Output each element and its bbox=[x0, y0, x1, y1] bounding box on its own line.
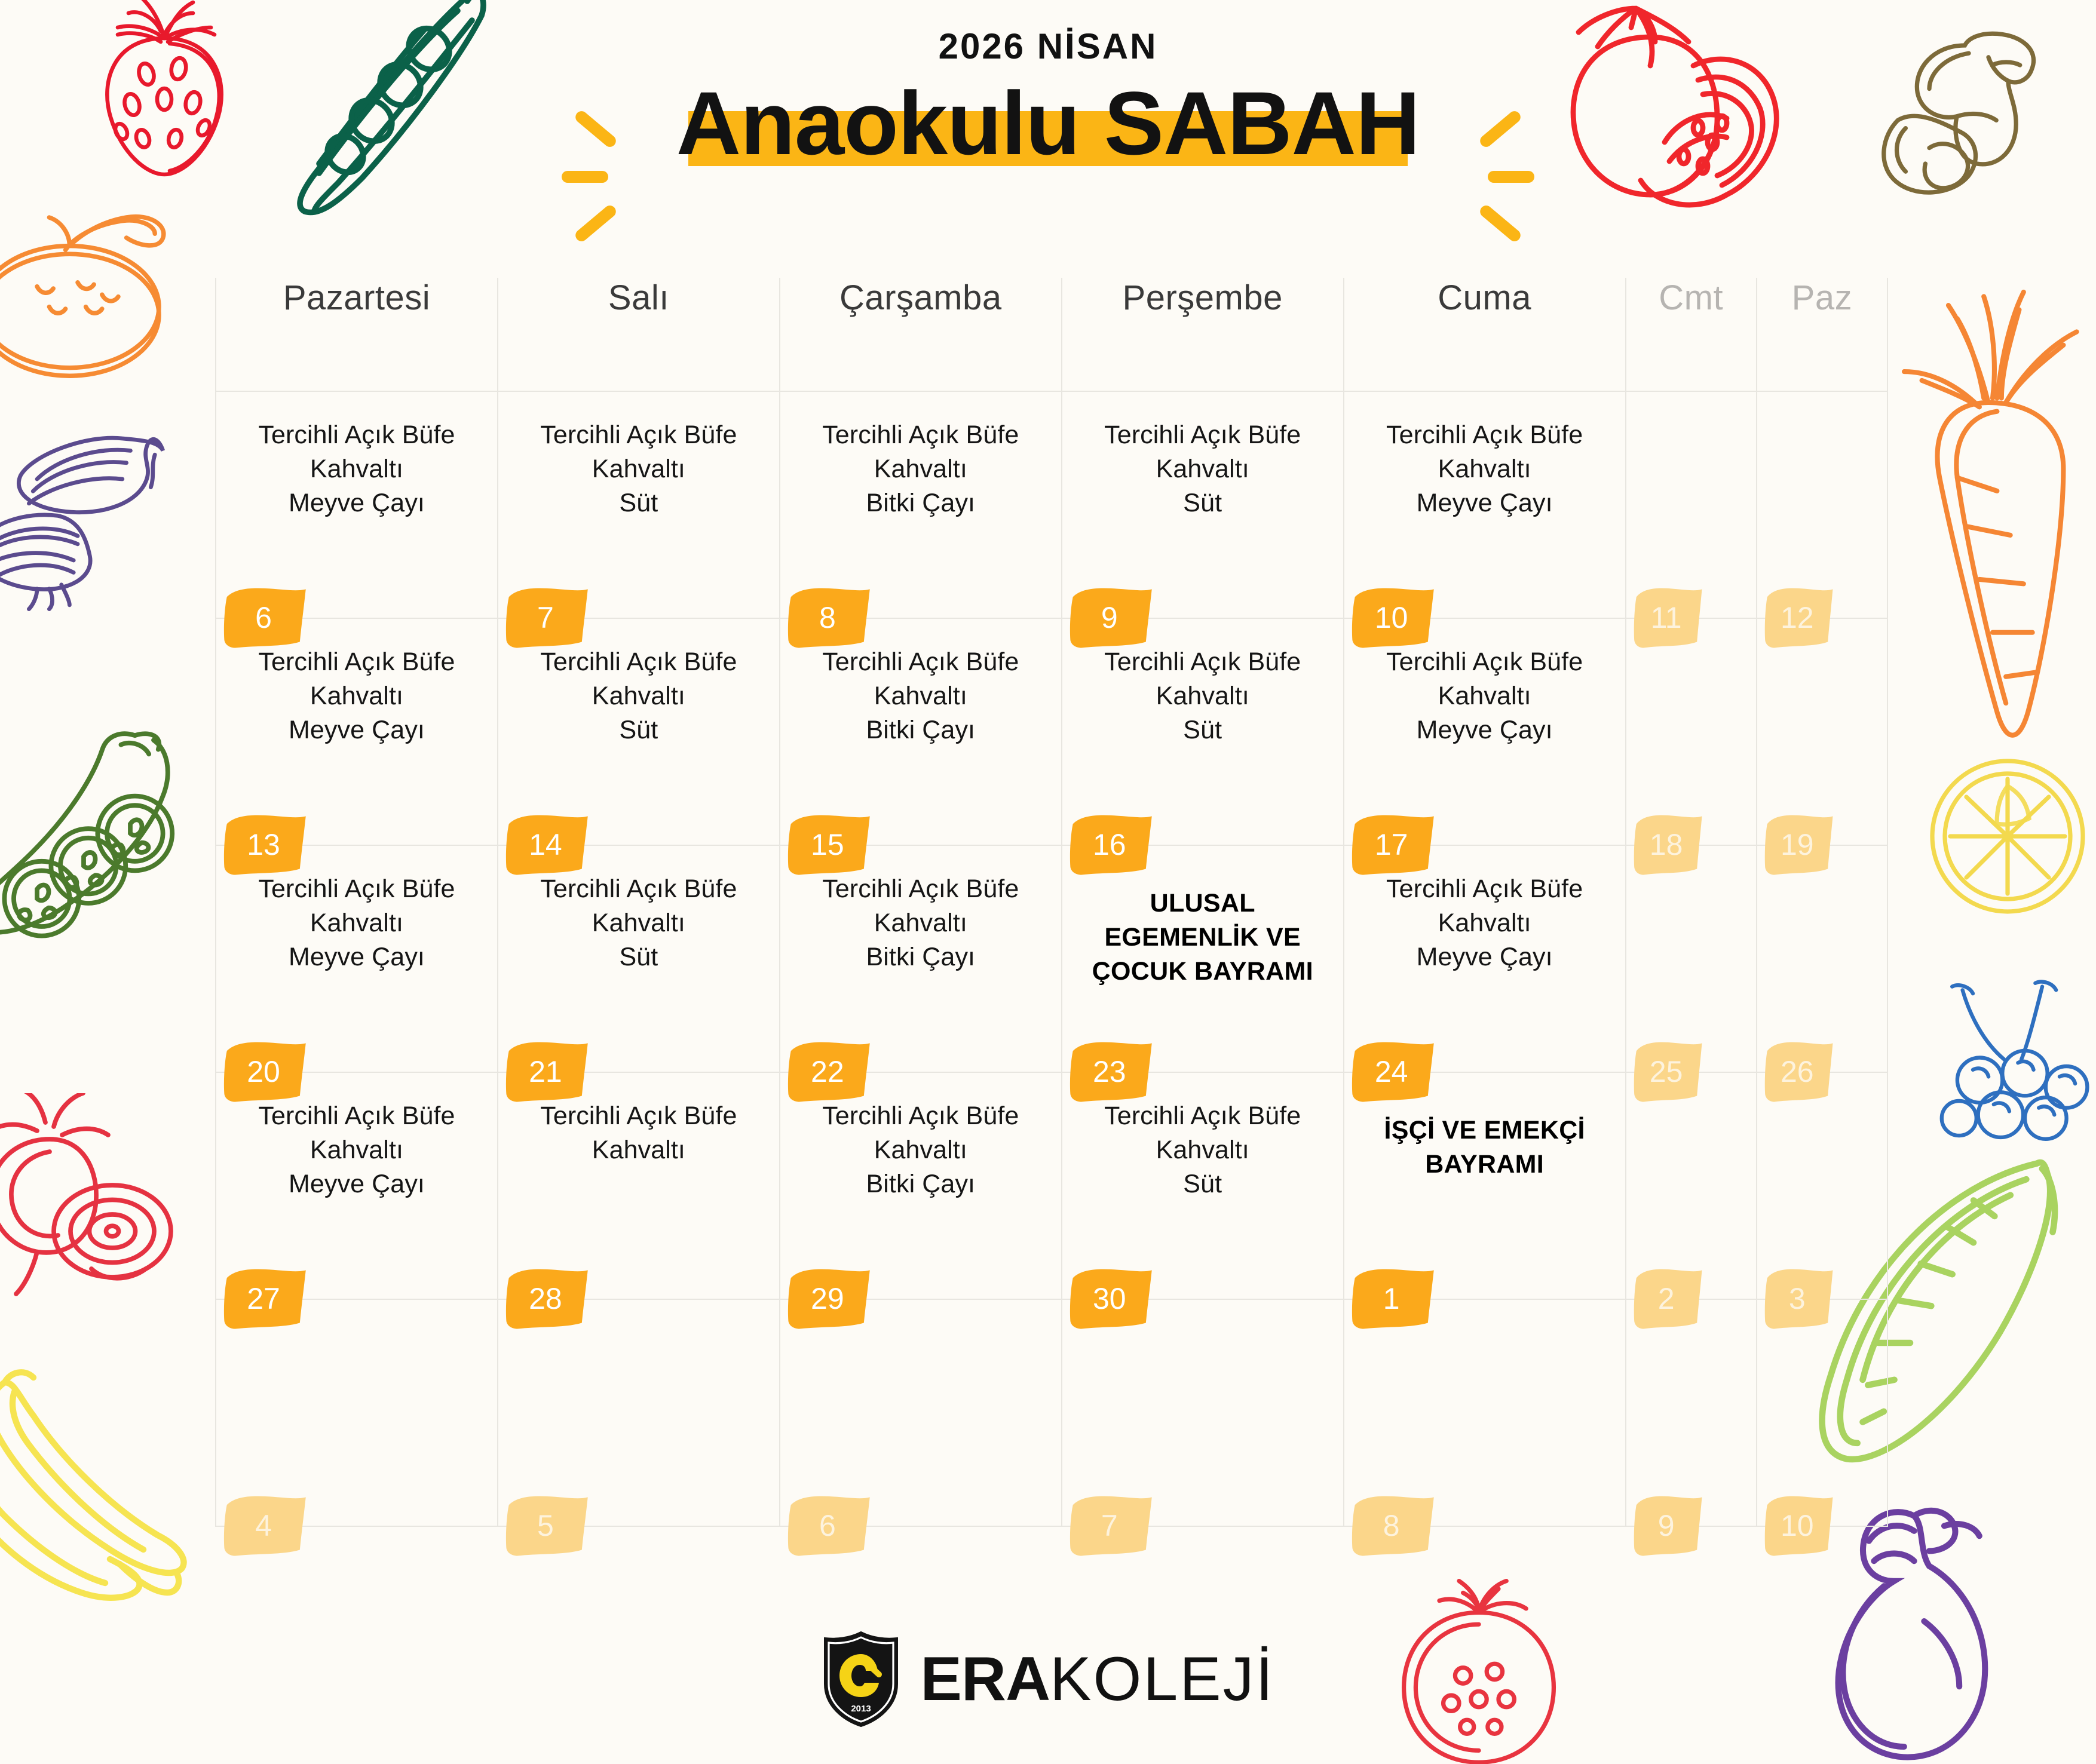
menu-line: Kahvaltı bbox=[507, 452, 771, 486]
date-badge[interactable]: 11 bbox=[1634, 587, 1704, 649]
date-badge[interactable]: 7 bbox=[505, 587, 590, 649]
menu-line: Tercihli Açık Büfe bbox=[1353, 645, 1617, 679]
date-badge[interactable]: 12 bbox=[1764, 587, 1835, 649]
date-number: 13 bbox=[223, 814, 308, 876]
lemon-slice-icon bbox=[1918, 747, 2096, 926]
date-badge[interactable]: 4 bbox=[223, 1495, 308, 1557]
date-number: 6 bbox=[223, 587, 308, 649]
calendar-day-cell-21[interactable]: Tercihli Açık BüfeKahvaltıSüt21 bbox=[498, 845, 780, 1072]
date-number: 29 bbox=[787, 1268, 872, 1330]
brand-koleji: KOLEJİ bbox=[1050, 1645, 1274, 1714]
beet-icon bbox=[0, 1093, 185, 1302]
date-number: 5 bbox=[505, 1495, 590, 1557]
date-badge[interactable]: 9 bbox=[1070, 587, 1154, 649]
calendar-day-cell-2[interactable]: 2 bbox=[1626, 1072, 1757, 1299]
menu-line: Kahvaltı bbox=[1353, 452, 1617, 486]
date-number: 16 bbox=[1070, 814, 1154, 876]
day-cell-content: Tercihli Açık BüfeKahvaltıMeyve Çayı13 bbox=[216, 619, 497, 845]
date-badge[interactable]: 1 bbox=[1352, 1268, 1436, 1330]
date-number: 10 bbox=[1764, 1495, 1835, 1557]
menu-line: Kahvaltı bbox=[1353, 906, 1617, 940]
menu-line: Tercihli Açık Büfe bbox=[225, 872, 489, 906]
day-cell-content: 26 bbox=[1757, 846, 1887, 1072]
pumpkin-icon bbox=[0, 197, 197, 400]
calendar-day-cell-27[interactable]: Tercihli Açık BüfeKahvaltıMeyve Çayı27 bbox=[216, 1072, 498, 1299]
date-number: 1 bbox=[1352, 1268, 1436, 1330]
day-cell-content: 7 bbox=[1062, 1300, 1343, 1526]
calendar-day-cell-26[interactable]: 26 bbox=[1757, 845, 1887, 1072]
calendar-day-cell-25[interactable]: 25 bbox=[1626, 845, 1757, 1072]
calendar-day-cell-3[interactable]: 3 bbox=[1757, 1072, 1887, 1299]
menu-line: Meyve Çayı bbox=[225, 940, 489, 974]
calendar-day-cell-9[interactable]: Tercihli Açık BüfeKahvaltıSüt9 bbox=[1062, 391, 1344, 618]
date-number: 9 bbox=[1070, 587, 1154, 649]
date-badge[interactable]: 10 bbox=[1352, 587, 1436, 649]
sparkle-left-icon bbox=[558, 119, 648, 233]
date-number: 10 bbox=[1352, 587, 1436, 649]
calendar-day-cell-18[interactable]: 18 bbox=[1626, 618, 1757, 845]
calendar-day-cell-30[interactable]: Tercihli Açık BüfeKahvaltıSüt30 bbox=[1062, 1072, 1344, 1299]
date-number: 28 bbox=[505, 1268, 590, 1330]
date-badge[interactable]: 22 bbox=[787, 1041, 872, 1103]
day-header-label: Çarşamba bbox=[780, 278, 1061, 318]
day-cell-content: Tercihli Açık BüfeKahvaltıSüt9 bbox=[1062, 392, 1343, 618]
menu-line: Tercihli Açık Büfe bbox=[1071, 645, 1335, 679]
menu-line: Kahvaltı bbox=[225, 1133, 489, 1167]
date-number: 4 bbox=[223, 1495, 308, 1557]
calendar-day-cell-19[interactable]: 19 bbox=[1757, 618, 1887, 845]
page-subtitle: 2026 NİSAN bbox=[0, 29, 2096, 65]
day-cell-content: 18 bbox=[1626, 619, 1756, 845]
date-number: 12 bbox=[1764, 587, 1835, 649]
calendar: PazartesiSalıÇarşambaPerşembeCumaCmtPaz … bbox=[215, 278, 1888, 1527]
date-number: 25 bbox=[1634, 1041, 1704, 1103]
date-badge[interactable]: 19 bbox=[1764, 814, 1835, 876]
date-badge[interactable]: 8 bbox=[1352, 1495, 1436, 1557]
date-badge[interactable]: 6 bbox=[787, 1495, 872, 1557]
date-number: 7 bbox=[1070, 1495, 1154, 1557]
day-cell-content: Tercihli Açık BüfeKahvaltıMeyve Çayı20 bbox=[216, 846, 497, 1072]
calendar-day-header-7: Paz bbox=[1757, 278, 1887, 391]
page-title: Anaokulu SABAH bbox=[661, 73, 1435, 173]
date-badge[interactable]: 15 bbox=[787, 814, 872, 876]
calendar-day-cell-24[interactable]: Tercihli Açık BüfeKahvaltıMeyve Çayı24 bbox=[1344, 845, 1626, 1072]
menu-line: Tercihli Açık Büfe bbox=[507, 1099, 771, 1133]
date-badge[interactable]: 17 bbox=[1352, 814, 1436, 876]
date-badge[interactable]: 10 bbox=[1764, 1495, 1835, 1557]
calendar-day-cell-8[interactable]: 8 bbox=[1344, 1299, 1626, 1526]
calendar-body: Tercihli Açık BüfeKahvaltıMeyve Çayı6Ter… bbox=[216, 391, 1887, 1526]
menu-line: Meyve Çayı bbox=[225, 486, 489, 520]
brand-era: ERA bbox=[921, 1645, 1050, 1714]
menu-line: Süt bbox=[1071, 1167, 1335, 1201]
day-cell-content: Tercihli Açık BüfeKahvaltıBitki Çayı8 bbox=[780, 392, 1061, 618]
calendar-day-cell-23[interactable]: ULUSAL EGEMENLİK VE ÇOCUK BAYRAMI23 bbox=[1062, 845, 1344, 1072]
footer-logo: 2013 ERAKOLEJİ bbox=[0, 1631, 2096, 1727]
date-badge[interactable]: 8 bbox=[787, 587, 872, 649]
menu-line: Tercihli Açık Büfe bbox=[789, 645, 1053, 679]
day-cell-content: 11 bbox=[1626, 392, 1756, 618]
calendar-day-cell-8[interactable]: Tercihli Açık BüfeKahvaltıBitki Çayı8 bbox=[780, 391, 1062, 618]
day-header-label: Cuma bbox=[1344, 278, 1625, 318]
calendar-day-cell-22[interactable]: Tercihli Açık BüfeKahvaltıBitki Çayı22 bbox=[780, 845, 1062, 1072]
era-shield-icon: 2013 bbox=[822, 1631, 900, 1727]
date-badge[interactable]: 26 bbox=[1764, 1041, 1835, 1103]
menu-line: Tercihli Açık Büfe bbox=[789, 1099, 1053, 1133]
calendar-day-cell-6[interactable]: Tercihli Açık BüfeKahvaltıMeyve Çayı6 bbox=[216, 391, 498, 618]
date-number: 8 bbox=[1352, 1495, 1436, 1557]
holiday-label: ULUSAL EGEMENLİK VE ÇOCUK BAYRAMI bbox=[1071, 872, 1335, 988]
calendar-header-row: PazartesiSalıÇarşambaPerşembeCumaCmtPaz bbox=[216, 278, 1887, 391]
calendar-day-cell-10[interactable]: 10 bbox=[1757, 1299, 1887, 1526]
day-cell-content: Tercihli Açık BüfeKahvaltıMeyve Çayı10 bbox=[1344, 392, 1625, 618]
calendar-day-cell-29[interactable]: Tercihli Açık BüfeKahvaltıBitki Çayı29 bbox=[780, 1072, 1062, 1299]
calendar-day-cell-28[interactable]: Tercihli Açık BüfeKahvaltı28 bbox=[498, 1072, 780, 1299]
calendar-day-cell-16[interactable]: Tercihli Açık BüfeKahvaltıSüt16 bbox=[1062, 618, 1344, 845]
day-cell-content: 19 bbox=[1757, 619, 1887, 845]
day-cell-content: Tercihli Açık BüfeKahvaltıMeyve Çayı24 bbox=[1344, 846, 1625, 1072]
date-number: 2 bbox=[1634, 1268, 1704, 1330]
menu-line: Süt bbox=[1071, 713, 1335, 747]
date-number: 30 bbox=[1070, 1268, 1154, 1330]
day-cell-content: 10 bbox=[1757, 1300, 1887, 1526]
day-cell-content: Tercihli Açık BüfeKahvaltıSüt16 bbox=[1062, 619, 1343, 845]
menu-line: Kahvaltı bbox=[789, 452, 1053, 486]
calendar-day-header-2: Salı bbox=[498, 278, 780, 391]
menu-line: Bitki Çayı bbox=[789, 1167, 1053, 1201]
date-badge[interactable]: 5 bbox=[505, 1495, 590, 1557]
menu-line: Tercihli Açık Büfe bbox=[225, 645, 489, 679]
date-number: 11 bbox=[1634, 587, 1704, 649]
day-cell-content: Tercihli Açık BüfeKahvaltı28 bbox=[498, 1073, 779, 1299]
date-number: 9 bbox=[1634, 1495, 1704, 1557]
day-cell-content: Tercihli Açık BüfeKahvaltıMeyve Çayı17 bbox=[1344, 619, 1625, 845]
day-cell-content: ULUSAL EGEMENLİK VE ÇOCUK BAYRAMI23 bbox=[1062, 846, 1343, 1072]
menu-line: Kahvaltı bbox=[1353, 679, 1617, 713]
day-cell-content: 8 bbox=[1344, 1300, 1625, 1526]
day-cell-content: Tercihli Açık BüfeKahvaltıSüt14 bbox=[498, 619, 779, 845]
menu-line: Bitki Çayı bbox=[789, 713, 1053, 747]
date-badge[interactable]: 14 bbox=[505, 814, 590, 876]
day-cell-content: 6 bbox=[780, 1300, 1061, 1526]
date-badge[interactable]: 13 bbox=[223, 814, 308, 876]
calendar-day-header-6: Cmt bbox=[1626, 278, 1757, 391]
calendar-week-row: Tercihli Açık BüfeKahvaltıMeyve Çayı20Te… bbox=[216, 845, 1887, 1072]
calendar-day-cell-13[interactable]: Tercihli Açık BüfeKahvaltıMeyve Çayı13 bbox=[216, 618, 498, 845]
day-cell-content: 12 bbox=[1757, 392, 1887, 618]
calendar-week-row: Tercihli Açık BüfeKahvaltıMeyve Çayı6Ter… bbox=[216, 391, 1887, 618]
day-cell-content: 3 bbox=[1757, 1073, 1887, 1299]
calendar-day-cell-11[interactable]: 11 bbox=[1626, 391, 1757, 618]
menu-line: Süt bbox=[507, 486, 771, 520]
calendar-day-cell-12[interactable]: 12 bbox=[1757, 391, 1887, 618]
zucchini-icon bbox=[0, 717, 203, 950]
menu-line: Tercihli Açık Büfe bbox=[1353, 418, 1617, 452]
menu-line: Tercihli Açık Büfe bbox=[1071, 418, 1335, 452]
day-cell-content: 5 bbox=[498, 1300, 779, 1526]
menu-line: Kahvaltı bbox=[789, 679, 1053, 713]
day-header-label: Pazartesi bbox=[216, 278, 497, 318]
date-badge[interactable]: 18 bbox=[1634, 814, 1704, 876]
date-number: 6 bbox=[787, 1495, 872, 1557]
sparkle-right-icon bbox=[1448, 119, 1538, 233]
menu-line: Tercihli Açık Büfe bbox=[507, 645, 771, 679]
calendar-day-cell-10[interactable]: Tercihli Açık BüfeKahvaltıMeyve Çayı10 bbox=[1344, 391, 1626, 618]
calendar-day-cell-5[interactable]: 5 bbox=[498, 1299, 780, 1526]
menu-line: Bitki Çayı bbox=[789, 940, 1053, 974]
day-cell-content: 9 bbox=[1626, 1300, 1756, 1526]
day-cell-content: Tercihli Açık BüfeKahvaltıSüt30 bbox=[1062, 1073, 1343, 1299]
menu-line: Tercihli Açık Büfe bbox=[1071, 1099, 1335, 1133]
calendar-day-cell-6[interactable]: 6 bbox=[780, 1299, 1062, 1526]
menu-line: Meyve Çayı bbox=[1353, 713, 1617, 747]
menu-line: Meyve Çayı bbox=[1353, 940, 1617, 974]
date-badge[interactable]: 28 bbox=[505, 1268, 590, 1330]
menu-line: Kahvaltı bbox=[225, 906, 489, 940]
menu-line: Kahvaltı bbox=[789, 906, 1053, 940]
menu-line: Meyve Çayı bbox=[225, 713, 489, 747]
menu-line: Meyve Çayı bbox=[225, 1167, 489, 1201]
date-number: 8 bbox=[787, 587, 872, 649]
date-number: 17 bbox=[1352, 814, 1436, 876]
date-number: 27 bbox=[223, 1268, 308, 1330]
date-number: 26 bbox=[1764, 1041, 1835, 1103]
calendar-week-row: Tercihli Açık BüfeKahvaltıMeyve Çayı13Te… bbox=[216, 618, 1887, 845]
menu-line: Süt bbox=[507, 940, 771, 974]
date-number: 3 bbox=[1764, 1268, 1835, 1330]
calendar-day-cell-9[interactable]: 9 bbox=[1626, 1299, 1757, 1526]
menu-line: Tercihli Açık Büfe bbox=[507, 872, 771, 906]
date-badge[interactable]: 2 bbox=[1634, 1268, 1704, 1330]
calendar-day-cell-17[interactable]: Tercihli Açık BüfeKahvaltıMeyve Çayı17 bbox=[1344, 618, 1626, 845]
page-header: 2026 NİSAN Anaokulu SABAH bbox=[0, 0, 2096, 173]
date-badge[interactable]: 29 bbox=[787, 1268, 872, 1330]
holiday-label: İŞÇİ VE EMEKÇİ BAYRAMI bbox=[1353, 1099, 1617, 1182]
day-cell-content: Tercihli Açık BüfeKahvaltıSüt7 bbox=[498, 392, 779, 618]
date-number: 21 bbox=[505, 1041, 590, 1103]
menu-line: Bitki Çayı bbox=[789, 486, 1053, 520]
date-number: 14 bbox=[505, 814, 590, 876]
menu-line: Kahvaltı bbox=[789, 1133, 1053, 1167]
date-badge[interactable]: 30 bbox=[1070, 1268, 1154, 1330]
calendar-table: PazartesiSalıÇarşambaPerşembeCumaCmtPaz … bbox=[215, 278, 1888, 1527]
brand-wordmark: ERAKOLEJİ bbox=[921, 1648, 1275, 1710]
calendar-day-cell-4[interactable]: 4 bbox=[216, 1299, 498, 1526]
menu-line: Kahvaltı bbox=[507, 1133, 771, 1167]
day-cell-content: Tercihli Açık BüfeKahvaltıBitki Çayı22 bbox=[780, 846, 1061, 1072]
date-badge[interactable]: 6 bbox=[223, 587, 308, 649]
calendar-day-header-5: Cuma bbox=[1344, 278, 1626, 391]
day-cell-content: Tercihli Açık BüfeKahvaltıMeyve Çayı6 bbox=[216, 392, 497, 618]
calendar-day-cell-14[interactable]: Tercihli Açık BüfeKahvaltıSüt14 bbox=[498, 618, 780, 845]
menu-line: Kahvaltı bbox=[225, 452, 489, 486]
day-header-label: Paz bbox=[1757, 278, 1887, 318]
menu-line: Süt bbox=[1071, 486, 1335, 520]
calendar-week-row: Tercihli Açık BüfeKahvaltıMeyve Çayı27Te… bbox=[216, 1072, 1887, 1299]
day-cell-content: İŞÇİ VE EMEKÇİ BAYRAMI1 bbox=[1344, 1073, 1625, 1299]
date-badge[interactable]: 25 bbox=[1634, 1041, 1704, 1103]
day-cell-content: Tercihli Açık BüfeKahvaltıBitki Çayı29 bbox=[780, 1073, 1061, 1299]
day-header-label: Perşembe bbox=[1062, 278, 1343, 318]
menu-line: Tercihli Açık Büfe bbox=[507, 418, 771, 452]
menu-line: Kahvaltı bbox=[507, 906, 771, 940]
date-badge[interactable]: 9 bbox=[1634, 1495, 1704, 1557]
day-cell-content: 2 bbox=[1626, 1073, 1756, 1299]
date-badge[interactable]: 24 bbox=[1352, 1041, 1436, 1103]
day-cell-content: 25 bbox=[1626, 846, 1756, 1072]
page-title-wrap: Anaokulu SABAH bbox=[652, 73, 1444, 173]
date-badge[interactable]: 21 bbox=[505, 1041, 590, 1103]
day-header-label: Cmt bbox=[1626, 278, 1756, 318]
menu-line: Kahvaltı bbox=[225, 679, 489, 713]
calendar-week-row: 45678910 bbox=[216, 1299, 1887, 1526]
calendar-day-header-3: Çarşamba bbox=[780, 278, 1062, 391]
date-number: 19 bbox=[1764, 814, 1835, 876]
menu-line: Kahvaltı bbox=[507, 679, 771, 713]
date-number: 7 bbox=[505, 587, 590, 649]
banana-icon bbox=[0, 1362, 191, 1613]
day-cell-content: Tercihli Açık BüfeKahvaltıMeyve Çayı27 bbox=[216, 1073, 497, 1299]
calendar-day-cell-7[interactable]: Tercihli Açık BüfeKahvaltıSüt7 bbox=[498, 391, 780, 618]
date-badge[interactable]: 27 bbox=[223, 1268, 308, 1330]
menu-line: Süt bbox=[507, 713, 771, 747]
grapes-icon bbox=[1912, 980, 2096, 1153]
calendar-day-cell-20[interactable]: Tercihli Açık BüfeKahvaltıMeyve Çayı20 bbox=[216, 845, 498, 1072]
menu-line: Tercihli Açık Büfe bbox=[225, 418, 489, 452]
menu-line: Kahvaltı bbox=[1071, 1133, 1335, 1167]
calendar-day-cell-1[interactable]: İŞÇİ VE EMEKÇİ BAYRAMI1 bbox=[1344, 1072, 1626, 1299]
date-number: 20 bbox=[223, 1041, 308, 1103]
calendar-day-header-1: Pazartesi bbox=[216, 278, 498, 391]
calendar-day-cell-15[interactable]: Tercihli Açık BüfeKahvaltıBitki Çayı15 bbox=[780, 618, 1062, 845]
date-number: 22 bbox=[787, 1041, 872, 1103]
onion-garlic-icon bbox=[0, 418, 203, 621]
date-badge[interactable]: 23 bbox=[1070, 1041, 1154, 1103]
logo-year: 2013 bbox=[851, 1704, 871, 1714]
date-badge[interactable]: 7 bbox=[1070, 1495, 1154, 1557]
day-header-label: Salı bbox=[498, 278, 779, 318]
day-cell-content: Tercihli Açık BüfeKahvaltıSüt21 bbox=[498, 846, 779, 1072]
day-cell-content: 4 bbox=[216, 1300, 497, 1526]
carrot-icon bbox=[1882, 287, 2096, 753]
date-badge[interactable]: 20 bbox=[223, 1041, 308, 1103]
date-badge[interactable]: 16 bbox=[1070, 814, 1154, 876]
menu-line: Tercihli Açık Büfe bbox=[789, 418, 1053, 452]
date-number: 18 bbox=[1634, 814, 1704, 876]
menu-line: Kahvaltı bbox=[1071, 679, 1335, 713]
menu-line: Kahvaltı bbox=[1071, 452, 1335, 486]
calendar-day-cell-7[interactable]: 7 bbox=[1062, 1299, 1344, 1526]
menu-line: Tercihli Açık Büfe bbox=[1353, 872, 1617, 906]
date-number: 15 bbox=[787, 814, 872, 876]
menu-line: Tercihli Açık Büfe bbox=[789, 872, 1053, 906]
day-cell-content: Tercihli Açık BüfeKahvaltıBitki Çayı15 bbox=[780, 619, 1061, 845]
menu-line: Meyve Çayı bbox=[1353, 486, 1617, 520]
date-number: 24 bbox=[1352, 1041, 1436, 1103]
date-badge[interactable]: 3 bbox=[1764, 1268, 1835, 1330]
date-number: 23 bbox=[1070, 1041, 1154, 1103]
menu-line: Tercihli Açık Büfe bbox=[225, 1099, 489, 1133]
calendar-day-header-4: Perşembe bbox=[1062, 278, 1344, 391]
